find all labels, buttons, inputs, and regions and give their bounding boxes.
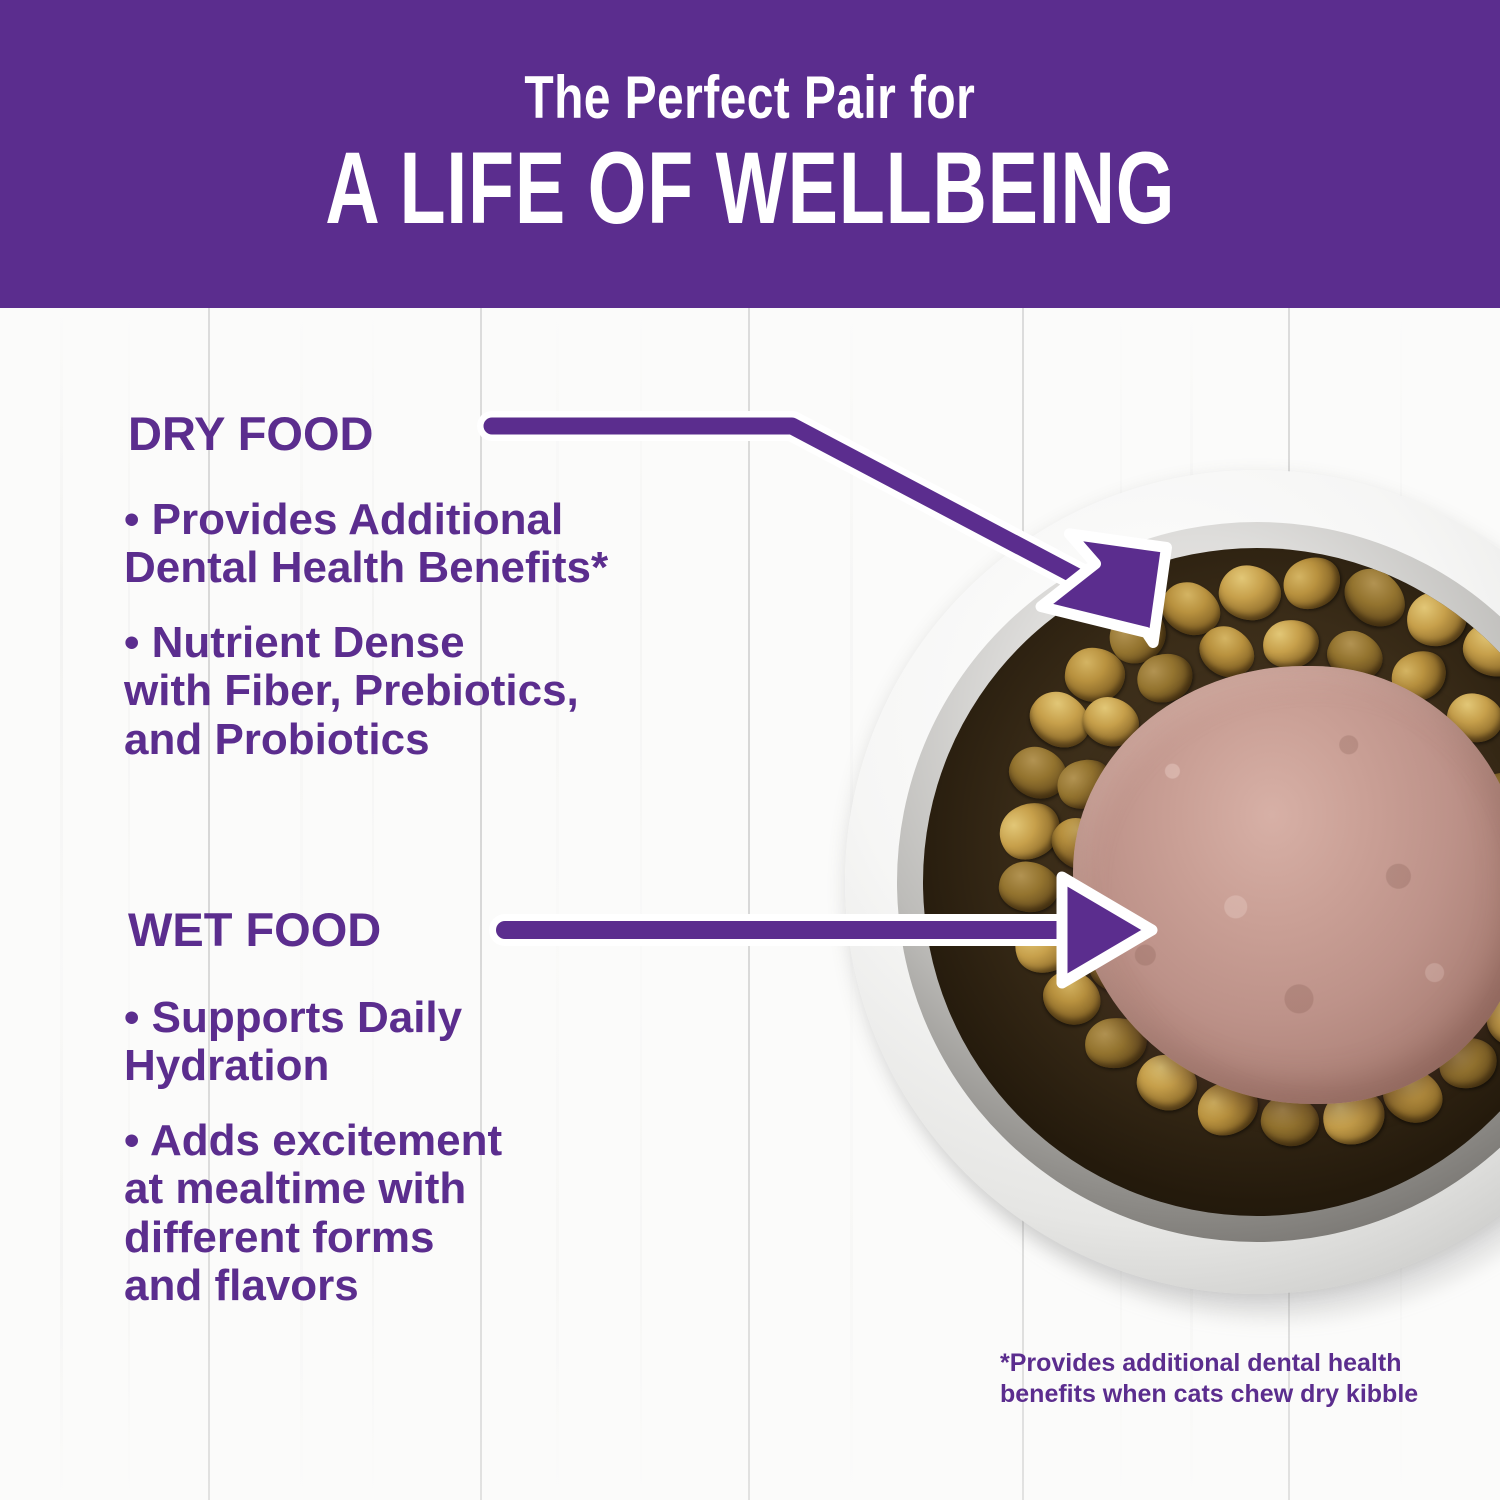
bullet-line: and Probiotics [124,716,784,764]
bullet-line: • Supports Daily [124,994,784,1042]
bullet-item: • Provides Additional Dental Health Bene… [124,496,784,593]
section-heading-wet-food: WET FOOD [128,902,381,957]
bullet-line: Hydration [124,1042,784,1090]
bullet-item: • Supports Daily Hydration [124,994,784,1091]
bullet-list-dry-food: • Provides Additional Dental Health Bene… [124,496,784,790]
bullet-line: • Provides Additional [124,496,784,544]
bullet-line: • Adds excitement [124,1117,784,1165]
header-title: A LIFE OF WELLBEING [325,136,1175,240]
bullet-line: and flavors [124,1262,784,1310]
bullet-line: • Nutrient Dense [124,619,784,667]
bullet-item: • Nutrient Dense with Fiber, Prebiotics,… [124,619,784,764]
bullet-line: at mealtime with [124,1165,784,1213]
bullet-line: different forms [124,1214,784,1262]
bullet-line: Dental Health Benefits* [124,544,784,592]
poster-canvas: The Perfect Pair for A LIFE OF WELLBEING [0,0,1500,1500]
bullet-line: with Fiber, Prebiotics, [124,667,784,715]
footnote: *Provides additional dental health benef… [1000,1348,1420,1411]
content-area: DRY FOOD • Provides Additional Dental He… [0,308,1500,1500]
bullet-item: • Adds excitement at mealtime with diffe… [124,1117,784,1311]
bullet-list-wet-food: • Supports Daily Hydration • Adds excite… [124,994,784,1336]
header-subtitle: The Perfect Pair for [525,68,976,128]
footnote-line: *Provides additional dental health [1000,1348,1420,1379]
section-heading-dry-food: DRY FOOD [128,406,373,461]
header-banner: The Perfect Pair for A LIFE OF WELLBEING [0,0,1500,308]
footnote-line: benefits when cats chew dry kibble [1000,1379,1420,1410]
